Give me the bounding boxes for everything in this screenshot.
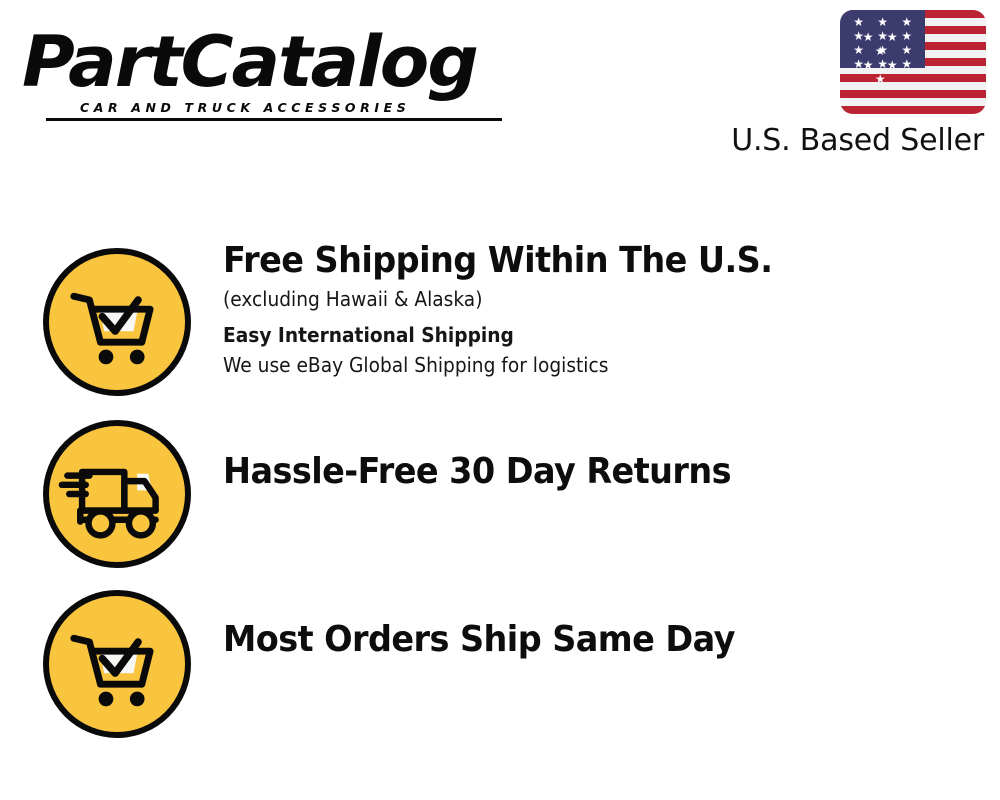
feature-text: Free Shipping Within The U.S. (excluding… [223, 238, 983, 380]
feature-title: Free Shipping Within The U.S. [223, 238, 930, 284]
feature-text: Most Orders Ship Same Day [223, 617, 983, 663]
brand-tagline: CAR AND TRUCK ACCESSORIES [80, 100, 410, 115]
flag-canton: ★ ★ ★ ★ ★ ★ ★ ★ ★ ★ ★ ★ ★ ★ ★ ★ ★ ★ [840, 10, 925, 68]
feature-subtitle: We use eBay Global Shipping for logistic… [223, 350, 930, 380]
shopping-cart-check-icon [43, 248, 191, 396]
page-header: PartCatalog CAR AND TRUCK ACCESSORIES ★ … [0, 0, 1000, 170]
flag-star-row: ★ ★ ★ ★ ★ [840, 43, 925, 58]
flag-star-row: ★ ★ ★ ★ ★ [840, 15, 925, 30]
feature-subtitle: (excluding Hawaii & Alaska) [223, 284, 930, 314]
feature-title: Hassle-Free 30 Day Returns [223, 449, 930, 495]
brand-logo[interactable]: PartCatalog CAR AND TRUCK ACCESSORIES [22, 24, 492, 116]
flag-star-row: ★ ★ ★ ★ [840, 29, 925, 44]
delivery-truck-icon [43, 420, 191, 568]
flag-stripe [840, 90, 986, 98]
shopping-cart-check-icon [43, 590, 191, 738]
us-flag-icon: ★ ★ ★ ★ ★ ★ ★ ★ ★ ★ ★ ★ ★ ★ ★ ★ ★ ★ [840, 10, 986, 114]
feature-row: Free Shipping Within The U.S. (excluding… [0, 230, 1000, 410]
seller-badge-label: U.S. Based Seller [706, 123, 986, 158]
flag-stripe [840, 74, 986, 82]
brand-wordmark: PartCatalog [22, 24, 477, 100]
feature-row: Most Orders Ship Same Day [0, 572, 1000, 732]
flag-stripe [840, 106, 986, 114]
us-based-seller-badge: ★ ★ ★ ★ ★ ★ ★ ★ ★ ★ ★ ★ ★ ★ ★ ★ ★ ★ U.S.… [706, 10, 986, 158]
feature-subtitle-strong: Easy International Shipping [223, 320, 930, 350]
feature-text: Hassle-Free 30 Day Returns [223, 449, 983, 495]
flag-star-row: ★ ★ ★ ★ [840, 57, 925, 72]
brand-underline [46, 118, 502, 121]
feature-row: Hassle-Free 30 Day Returns [0, 402, 1000, 562]
feature-title: Most Orders Ship Same Day [223, 617, 930, 663]
